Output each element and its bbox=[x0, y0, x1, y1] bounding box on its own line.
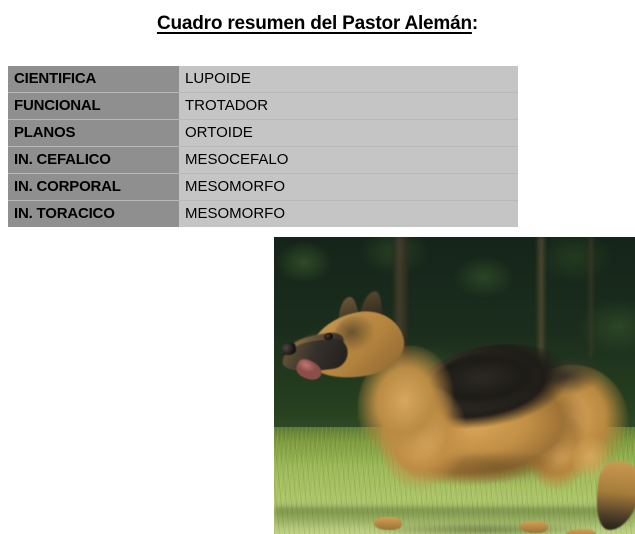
page-title-colon: : bbox=[472, 13, 478, 34]
table-row: FUNCIONAL TROTADOR bbox=[8, 93, 518, 120]
table-row: IN. CEFALICO MESOCEFALO bbox=[8, 147, 518, 174]
row-value-planos: ORTOIDE bbox=[179, 120, 518, 147]
row-value-funcional: TROTADOR bbox=[179, 93, 518, 120]
dog-figure bbox=[274, 237, 635, 534]
row-label-cientifica: CIENTIFICA bbox=[8, 66, 179, 93]
summary-table-body: CIENTIFICA LUPOIDE FUNCIONAL TROTADOR PL… bbox=[8, 66, 518, 227]
table-row: CIENTIFICA LUPOIDE bbox=[8, 66, 518, 93]
summary-table: CIENTIFICA LUPOIDE FUNCIONAL TROTADOR PL… bbox=[8, 66, 518, 227]
dog-hind-paw-near bbox=[520, 521, 548, 533]
table-row: IN. CORPORAL MESOMORFO bbox=[8, 174, 518, 201]
row-value-in-toracico: MESOMORFO bbox=[179, 201, 518, 228]
row-value-cientifica: LUPOIDE bbox=[179, 66, 518, 93]
page-title: Cuadro resumen del Pastor Alemán: bbox=[0, 13, 635, 35]
row-label-planos: PLANOS bbox=[8, 120, 179, 147]
row-value-in-corporal: MESOMORFO bbox=[179, 174, 518, 201]
dog-front-paw bbox=[374, 517, 402, 530]
german-shepherd-photo bbox=[274, 237, 635, 534]
row-label-in-corporal: IN. CORPORAL bbox=[8, 174, 179, 201]
page-title-text: Cuadro resumen del Pastor Alemán bbox=[157, 13, 472, 34]
table-row: PLANOS ORTOIDE bbox=[8, 120, 518, 147]
row-label-in-cefalico: IN. CEFALICO bbox=[8, 147, 179, 174]
row-value-in-cefalico: MESOCEFALO bbox=[179, 147, 518, 174]
table-row: IN. TORACICO MESOMORFO bbox=[8, 201, 518, 228]
row-label-funcional: FUNCIONAL bbox=[8, 93, 179, 120]
dog-hind-paw-far bbox=[566, 529, 596, 534]
row-label-in-toracico: IN. TORACICO bbox=[8, 201, 179, 228]
